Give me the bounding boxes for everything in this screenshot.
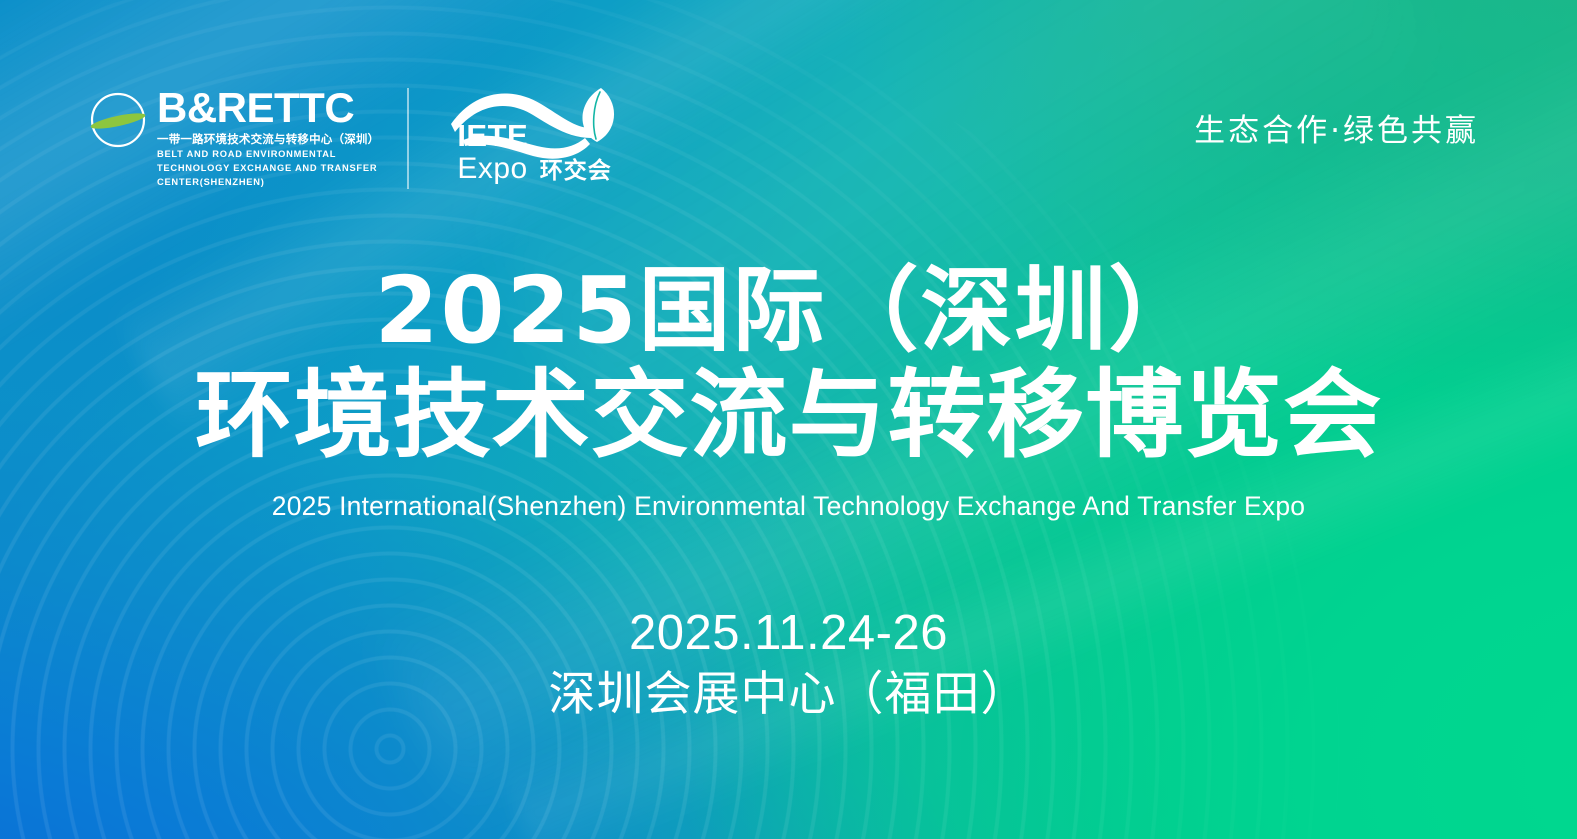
expo-banner: B&RETTC 一带一路环境技术交流与转移中心（深圳） BELT AND ROA… <box>0 0 1577 839</box>
brettc-english-line-2: TECHNOLOGY EXCHANGE AND TRANSFER <box>157 162 379 175</box>
event-venue: 深圳会展中心（福田） <box>0 667 1577 722</box>
iete-expo-word: Expo <box>457 154 527 184</box>
event-info-block: 2025.11.24-26 深圳会展中心（福田） <box>0 606 1577 722</box>
brettc-english-line-3: CENTER(SHENZHEN) <box>157 176 379 189</box>
globe-circle-icon <box>88 90 148 150</box>
iete-acronym: IETE <box>457 120 611 151</box>
banner-content: B&RETTC 一带一路环境技术交流与转移中心（深圳） BELT AND ROA… <box>0 0 1577 839</box>
brettc-chinese-name: 一带一路环境技术交流与转移中心（深圳） <box>157 132 379 148</box>
iete-expo-logo: IETE Expo 环交会 <box>449 88 617 186</box>
slogan-text: 生态合作·绿色共赢 <box>1194 105 1479 150</box>
iete-subline: Expo 环交会 <box>457 154 611 184</box>
iete-text-block: IETE Expo 环交会 <box>457 120 611 184</box>
title-line-1: 2025国际（深圳） <box>0 262 1577 360</box>
brettc-logo: B&RETTC 一带一路环境技术交流与转移中心（深圳） BELT AND ROA… <box>88 88 409 189</box>
brettc-wordmark: B&RETTC <box>157 88 379 128</box>
brettc-text-block: B&RETTC 一带一路环境技术交流与转移中心（深圳） BELT AND ROA… <box>157 88 379 189</box>
brettc-english-line-1: BELT AND ROAD ENVIRONMENTAL <box>157 148 379 161</box>
iete-chinese-short: 环交会 <box>540 160 612 183</box>
title-line-2: 环境技术交流与转移博览会 <box>0 362 1577 470</box>
logo-row: B&RETTC 一带一路环境技术交流与转移中心（深圳） BELT AND ROA… <box>88 88 617 189</box>
event-date: 2025.11.24-26 <box>0 606 1577 661</box>
title-english: 2025 International(Shenzhen) Environment… <box>0 491 1577 523</box>
title-block: 2025国际（深圳） 环境技术交流与转移博览会 2025 Internation… <box>0 262 1577 523</box>
